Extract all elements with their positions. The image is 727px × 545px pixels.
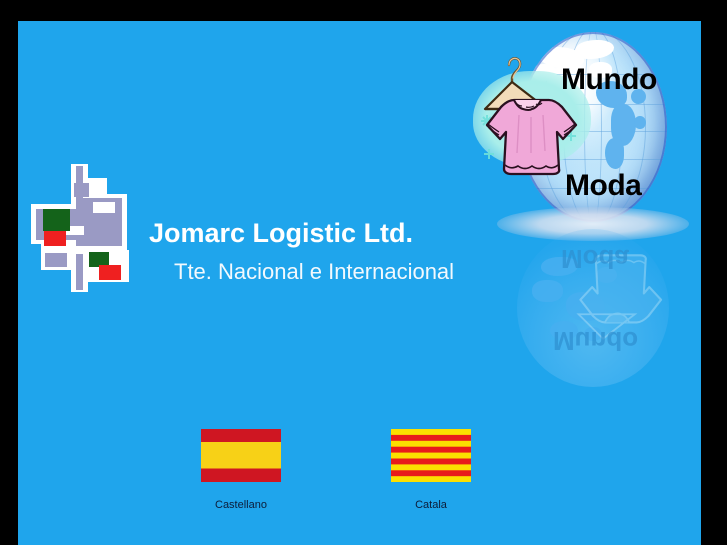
language-label-catala[interactable]: Catala: [371, 499, 491, 511]
language-option-castellano[interactable]: Castellano: [181, 429, 301, 511]
catalonia-flag-icon[interactable]: [391, 429, 471, 482]
splash-canvas: Mundo Moda Moda Mundo Jomarc Logistic Lt…: [18, 21, 701, 545]
language-label-castellano[interactable]: Castellano: [181, 499, 301, 511]
spain-flag-icon[interactable]: [201, 429, 281, 482]
language-selector: Castellano Catala: [18, 429, 701, 539]
mundo-moda-word-bottom: Moda: [565, 169, 641, 203]
jomarc-logo-icon: [23, 164, 127, 292]
language-option-catala[interactable]: Catala: [371, 429, 491, 511]
mundo-moda-word-top-reflection: Mundo: [553, 325, 638, 356]
company-tagline: Tte. Nacional e Internacional: [174, 259, 454, 285]
mundo-moda-word-top: Mundo: [561, 63, 657, 97]
page-root: Mundo Moda Moda Mundo Jomarc Logistic Lt…: [0, 0, 727, 545]
mundo-moda-logo: Mundo Moda Moda Mundo: [457, 21, 701, 361]
company-name: Jomarc Logistic Ltd.: [149, 218, 413, 249]
mundo-moda-word-bottom-reflection: Moda: [561, 243, 629, 274]
